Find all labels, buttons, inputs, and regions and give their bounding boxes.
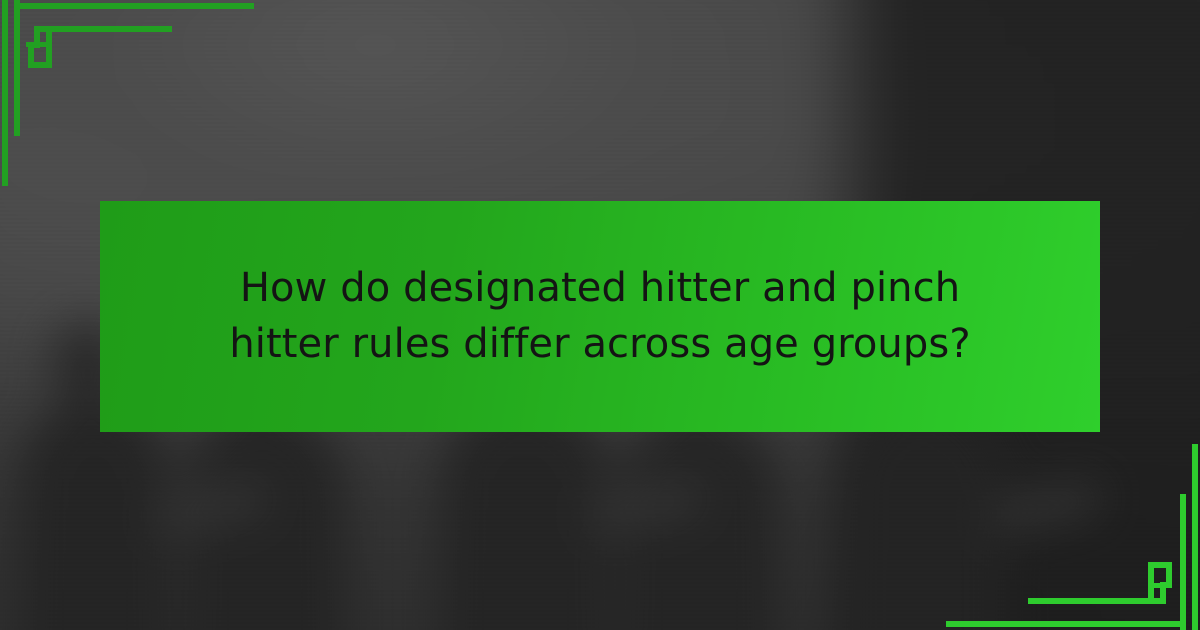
corner-bracket-top-left bbox=[0, 0, 360, 200]
corner-bracket-bottom-right-icon bbox=[840, 430, 1200, 630]
headline-banner: How do designated hitter and pinch hitte… bbox=[100, 201, 1100, 432]
corner-bracket-bottom-right bbox=[840, 430, 1200, 630]
social-card: How do designated hitter and pinch hitte… bbox=[0, 0, 1200, 630]
page-title: How do designated hitter and pinch hitte… bbox=[220, 261, 980, 371]
corner-bracket-top-left-icon bbox=[0, 0, 360, 200]
